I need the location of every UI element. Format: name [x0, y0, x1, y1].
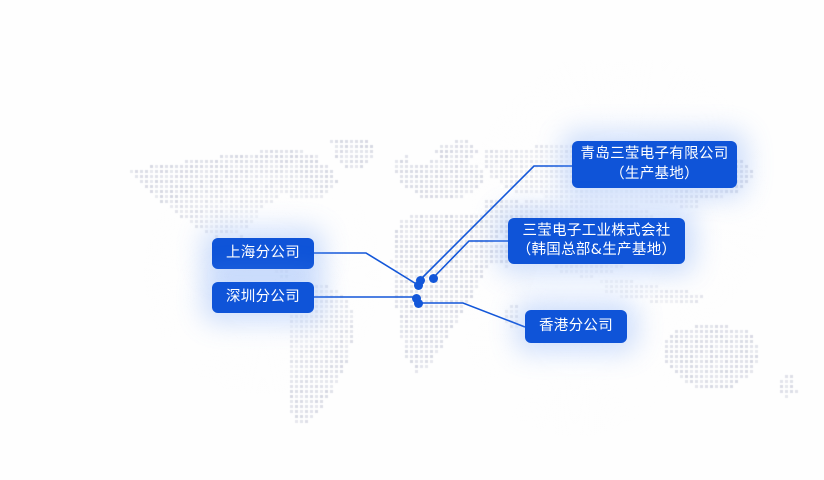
label-hongkong-branch[interactable]: 香港分公司	[525, 310, 627, 343]
label-hongkong-line1: 香港分公司	[539, 317, 613, 336]
label-shanghai-line1: 上海分公司	[226, 244, 300, 263]
connector-hongkong	[418, 303, 525, 327]
label-korea-line1: 三莹电子工业株式会社	[523, 222, 671, 241]
label-shenzhen-branch[interactable]: 深圳分公司	[212, 282, 314, 313]
connector-lines	[0, 0, 824, 480]
connector-korea	[433, 241, 508, 278]
marker-hongkong[interactable]	[414, 299, 423, 308]
label-qingdao-plant[interactable]: 青岛三莹电子有限公司 （生产基地）	[572, 141, 737, 188]
marker-shanghai[interactable]	[414, 281, 423, 290]
label-korea-line2: （韩国总部&生产基地）	[517, 241, 677, 260]
label-korea-headquarters[interactable]: 三莹电子工业株式会社 （韩国总部&生产基地）	[508, 218, 685, 264]
world-map-infographic: 青岛三莹电子有限公司 （生产基地） 三莹电子工业株式会社 （韩国总部&生产基地）…	[0, 0, 824, 480]
marker-korea[interactable]	[429, 274, 438, 283]
label-shanghai-branch[interactable]: 上海分公司	[212, 238, 314, 269]
label-shenzhen-line1: 深圳分公司	[226, 288, 300, 307]
label-qingdao-line1: 青岛三莹电子有限公司	[581, 145, 729, 164]
label-qingdao-line2: （生产基地）	[610, 165, 699, 184]
connector-shanghai	[314, 253, 418, 285]
